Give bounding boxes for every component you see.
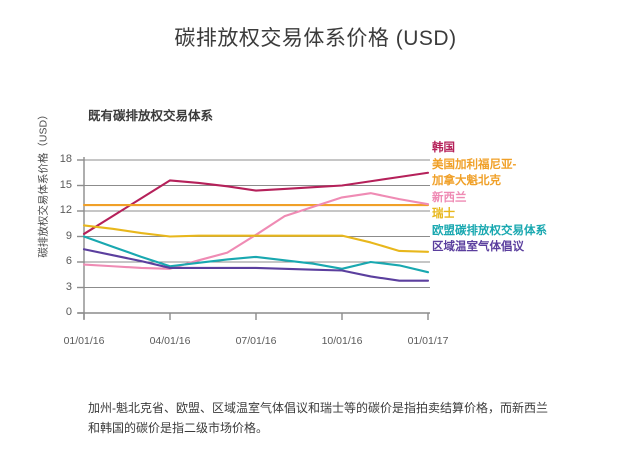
- legend-item-3[interactable]: 瑞士: [432, 206, 631, 223]
- y-tick-18: 18: [48, 153, 72, 165]
- legend-label: 美国加利福尼亚-: [432, 157, 631, 174]
- x-tick-4: 01/01/17: [388, 335, 468, 347]
- series-line-3: [84, 225, 428, 251]
- legend-label: 区域温室气体倡议: [432, 239, 631, 256]
- legend-item-0[interactable]: 韩国: [432, 140, 631, 157]
- legend-item-4[interactable]: 欧盟碳排放权交易体系: [432, 223, 631, 240]
- legend-label: 瑞士: [432, 206, 631, 223]
- x-tick-3: 10/01/16: [302, 335, 382, 347]
- x-tick-2: 07/01/16: [216, 335, 296, 347]
- y-tick-6: 6: [48, 255, 72, 267]
- legend: 韩国美国加利福尼亚-加拿大魁北克新西兰瑞士欧盟碳排放权交易体系区域温室气体倡议: [432, 140, 631, 256]
- legend-label: 韩国: [432, 140, 631, 157]
- y-tick-15: 15: [48, 179, 72, 191]
- legend-label: 新西兰: [432, 190, 631, 207]
- x-tick-1: 04/01/16: [130, 335, 210, 347]
- footnote-text: 加州-魁北克省、欧盟、区域温室气体倡议和瑞士等的碳价是指拍卖结算价格，而新西兰和…: [88, 398, 548, 438]
- y-tick-12: 12: [48, 204, 72, 216]
- legend-item-1[interactable]: 美国加利福尼亚-加拿大魁北克: [432, 157, 631, 190]
- legend-label: 欧盟碳排放权交易体系: [432, 223, 631, 240]
- legend-item-2[interactable]: 新西兰: [432, 190, 631, 207]
- y-tick-3: 3: [48, 281, 72, 293]
- series-line-0: [84, 173, 428, 234]
- y-tick-0: 0: [48, 306, 72, 318]
- x-tick-0: 01/01/16: [44, 335, 124, 347]
- legend-label-line2: 加拿大魁北克: [432, 173, 631, 190]
- legend-item-5[interactable]: 区域温室气体倡议: [432, 239, 631, 256]
- y-tick-9: 9: [48, 230, 72, 242]
- chart-page: 碳排放权交易体系价格 (USD) 既有碳排放权交易体系 碳排放权交易体系价格（U…: [0, 0, 631, 450]
